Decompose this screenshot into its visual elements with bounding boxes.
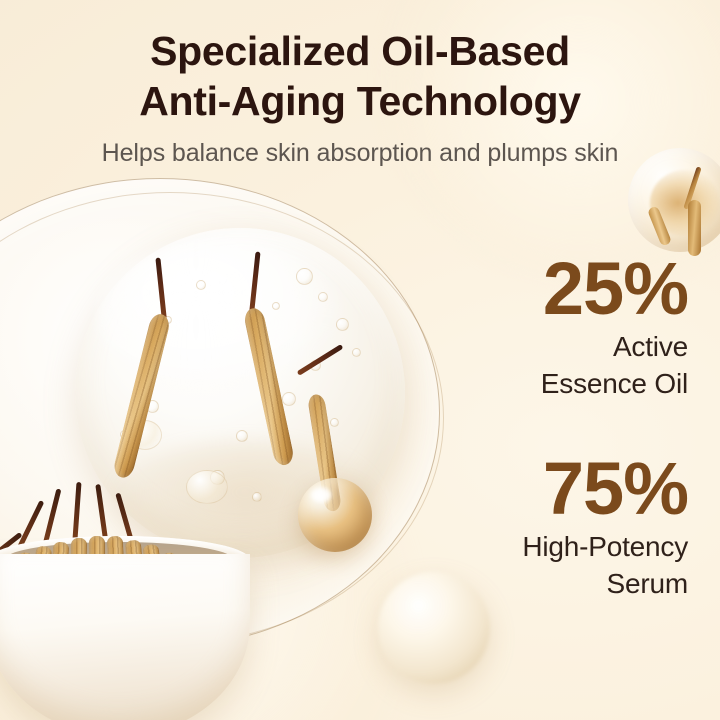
promo-canvas: Specialized Oil-Based Anti-Aging Technol… <box>0 0 720 720</box>
stat-label-line-1: Active <box>541 330 688 363</box>
gel-bubble <box>336 318 349 331</box>
gel-bubble <box>272 302 280 310</box>
bowl-body <box>0 554 250 720</box>
gel-bubble <box>196 280 206 290</box>
gel-bubble <box>318 292 328 302</box>
stat-percent-value: 75% <box>522 452 688 526</box>
stat-percent-value: 25% <box>541 252 688 326</box>
headline-line-1: Specialized Oil-Based <box>150 28 570 74</box>
cordyceps-bowl <box>0 502 274 720</box>
stat-active-essence-oil: 25% Active Essence Oil <box>541 252 688 400</box>
stat-high-potency-serum: 75% High-Potency Serum <box>522 452 688 600</box>
gel-bubble <box>236 430 248 442</box>
gel-bubble <box>252 492 262 502</box>
gel-bubble <box>330 418 339 427</box>
gel-bubble <box>352 348 361 357</box>
serum-droplet-gold <box>298 478 372 552</box>
stat-label-line-2: Serum <box>522 567 688 600</box>
headline-line-2: Anti-Aging Technology <box>0 76 720 126</box>
serum-droplet-pale <box>378 572 490 684</box>
cordyceps-strand <box>688 200 701 256</box>
page-title: Specialized Oil-Based Anti-Aging Technol… <box>0 26 720 126</box>
stat-label-line-1: High-Potency <box>522 530 688 563</box>
gel-droplet <box>186 470 228 504</box>
gel-bubble <box>282 392 296 406</box>
gel-bubble <box>296 268 313 285</box>
page-subtitle: Helps balance skin absorption and plumps… <box>0 137 720 169</box>
stat-label-line-2: Essence Oil <box>541 367 688 400</box>
